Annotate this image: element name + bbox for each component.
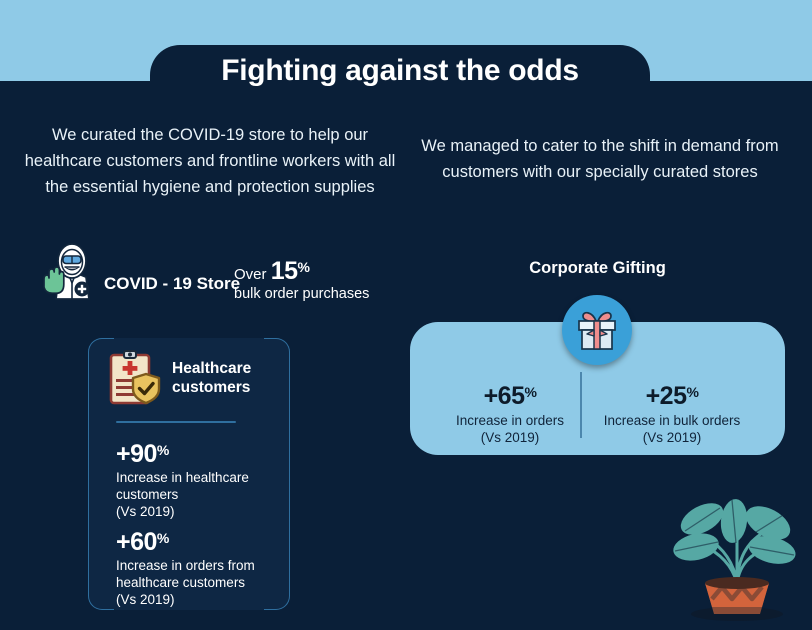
healthcare-card-title: Healthcare customers xyxy=(172,359,282,397)
infographic-poster: Fighting against the odds We curated the… xyxy=(0,0,812,630)
healthcare-stat-1-desc-line3: (Vs 2019) xyxy=(116,503,286,520)
healthcare-customers-card: Healthcare customers +90% Increase in he… xyxy=(88,338,290,610)
corporate-gifting-stat-2-unit: % xyxy=(686,384,698,400)
gift-box-icon xyxy=(562,295,632,365)
healthcare-stat-1-desc-line1: Increase in healthcare xyxy=(116,469,286,486)
healthcare-stat-2-value-line: +60% xyxy=(116,524,286,556)
healthcare-stat-1: +90% Increase in healthcare customers (V… xyxy=(116,436,286,520)
healthcare-card-header: Healthcare customers xyxy=(102,348,282,416)
bulk-order-value: 15 xyxy=(271,257,298,285)
corporate-gifting-stat-2-value: +25 xyxy=(646,382,687,410)
bulk-order-value-line: Over 15% xyxy=(234,257,374,285)
healthcare-stat-2-desc-line1: Increase in orders from xyxy=(116,557,286,574)
corporate-gifting-title: Corporate Gifting xyxy=(410,259,785,278)
intro-paragraph-left: We curated the COVID-19 store to help ou… xyxy=(24,122,396,200)
healthcare-stat-2-desc-line3: (Vs 2019) xyxy=(116,591,286,608)
healthcare-card-title-line1: Healthcare xyxy=(172,359,282,378)
healthcare-stat-1-unit: % xyxy=(157,442,169,458)
corporate-gifting-stat-2: +25% Increase in bulk orders (Vs 2019) xyxy=(592,378,752,446)
healthcare-stat-1-desc: Increase in healthcare customers (Vs 201… xyxy=(116,469,286,520)
corporate-gifting-stat-2-desc-line2: (Vs 2019) xyxy=(592,429,752,446)
bulk-order-prefix: Over xyxy=(234,266,267,283)
healthcare-stat-2: +60% Increase in orders from healthcare … xyxy=(116,524,286,608)
medical-clipboard-shield-icon xyxy=(102,348,164,410)
corporate-gifting-stat-1-desc: Increase in orders (Vs 2019) xyxy=(430,412,590,446)
covid-store-row: COVID - 19 Store Over 15% bulk order pur… xyxy=(42,243,372,305)
corporate-gifting-stat-1-desc-line2: (Vs 2019) xyxy=(430,429,590,446)
intro-paragraph-right: We managed to cater to the shift in dema… xyxy=(408,133,792,185)
bulk-order-caption: bulk order purchases xyxy=(234,285,374,304)
healthcare-card-title-line2: customers xyxy=(172,378,282,397)
bulk-order-unit: % xyxy=(298,259,310,275)
healthcare-stat-1-desc-line2: customers xyxy=(116,486,286,503)
covid-store-label: COVID - 19 Store xyxy=(104,274,240,294)
bulk-order-stat: Over 15% bulk order purchases xyxy=(234,257,374,304)
corporate-gifting-stat-2-desc-line1: Increase in bulk orders xyxy=(592,412,752,429)
healthcare-stat-1-value: +90 xyxy=(116,440,157,468)
healthcare-stat-1-value-line: +90% xyxy=(116,436,286,468)
corporate-gifting-stat-1-desc-line1: Increase in orders xyxy=(430,412,590,429)
corporate-gifting-stat-2-value-line: +25% xyxy=(592,378,752,410)
corporate-gifting-stat-1-value-line: +65% xyxy=(430,378,590,410)
healthcare-stat-2-value: +60 xyxy=(116,528,157,556)
corporate-gifting-stat-1: +65% Increase in orders (Vs 2019) xyxy=(430,378,590,446)
potted-plant-icon xyxy=(672,487,802,627)
ppe-healthcare-worker-icon xyxy=(42,243,102,301)
healthcare-stat-2-desc-line2: healthcare customers xyxy=(116,574,286,591)
healthcare-stat-2-desc: Increase in orders from healthcare custo… xyxy=(116,557,286,608)
page-title: Fighting against the odds xyxy=(150,54,650,88)
healthcare-stat-2-unit: % xyxy=(157,530,169,546)
corporate-gifting-stat-2-desc: Increase in bulk orders (Vs 2019) xyxy=(592,412,752,446)
corporate-gifting-stat-1-unit: % xyxy=(524,384,536,400)
healthcare-card-divider xyxy=(116,421,236,423)
corporate-gifting-stat-1-value: +65 xyxy=(484,382,525,410)
